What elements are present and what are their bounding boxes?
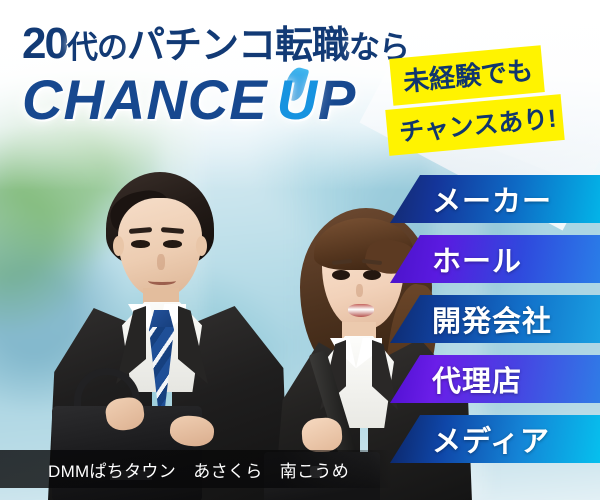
credit-text: DMMぱちタウン あさくら 南こうめ: [0, 457, 349, 482]
female-nose: [356, 284, 363, 297]
logo-letter-u: U: [277, 68, 318, 131]
male-nose: [157, 254, 165, 270]
recruitment-banner: 20代のパチンコ転職なら CHANCEUP 未経験でも チャンスあり! メーカー…: [0, 0, 600, 500]
male-eye-left: [131, 240, 150, 248]
headline-age-number: 20: [22, 19, 67, 68]
nav-item-maker[interactable]: メーカー: [390, 175, 600, 223]
male-ear-left: [113, 236, 124, 256]
headline-age-suffix: 代の: [67, 30, 127, 65]
logo-word-chance: CHANCE: [22, 68, 268, 131]
headline-block: 20代のパチンコ転職なら CHANCEUP: [22, 14, 409, 128]
nav-item-hall-label: ホール: [432, 238, 522, 280]
credit-bar: DMMぱちタウン あさくら 南こうめ: [0, 450, 392, 488]
headline-keyword: パチンコ転職: [127, 25, 349, 67]
highlight-badge: 未経験でも チャンスあり!: [391, 52, 600, 148]
nav-item-media-label: メディア: [432, 418, 550, 460]
male-ear-right: [196, 236, 207, 256]
nav-item-hall[interactable]: ホール: [390, 235, 600, 283]
logo-chance-up: CHANCEUP: [22, 71, 409, 128]
nav-item-maker-label: メーカー: [432, 178, 552, 220]
male-mouth: [148, 277, 176, 285]
nav-item-media[interactable]: メディア: [390, 415, 600, 463]
nav-item-agency[interactable]: 代理店: [390, 355, 600, 403]
male-eye-right: [163, 240, 182, 248]
nav-item-agency-label: 代理店: [432, 358, 522, 400]
nav-item-developer[interactable]: 開発会社: [390, 295, 600, 343]
female-eye-right: [363, 270, 381, 280]
female-eye-left: [332, 270, 350, 280]
logo-letter-p: P: [318, 68, 356, 131]
category-nav-list: メーカー ホール 開発会社 代理店 メディア: [390, 175, 600, 463]
headline-line-1: 20代のパチンコ転職なら: [22, 14, 409, 69]
female-mouth: [348, 304, 374, 317]
nav-item-developer-label: 開発会社: [432, 298, 552, 340]
logo-word-up: UP: [277, 71, 357, 128]
